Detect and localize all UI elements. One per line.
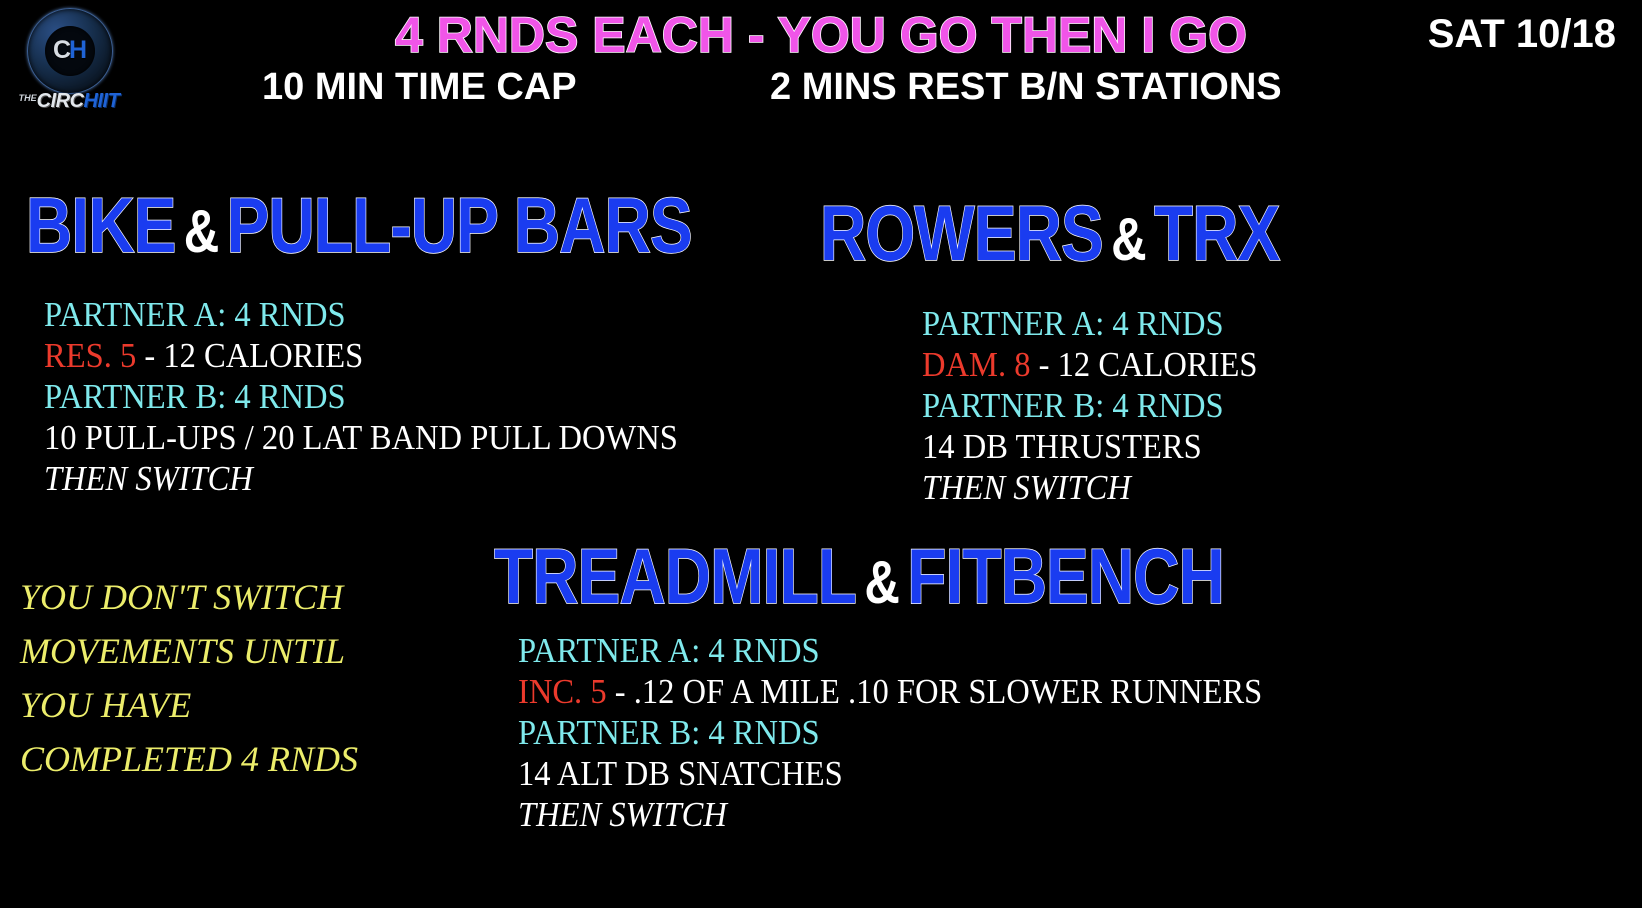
station-amp-1: & xyxy=(1103,206,1154,273)
station-1-line-1-suffix: - 12 CALORIES xyxy=(1031,345,1258,384)
note-line-3: COMPLETED 4 RNDS xyxy=(20,732,358,786)
station-name-trx: TRX xyxy=(1154,189,1279,277)
station-name-pullup-bars: PULL-UP BARS xyxy=(227,181,692,269)
station-1-line-0: PARTNER A: 4 RNDS xyxy=(922,303,1257,344)
station-0-line-1-setting: RES. 5 xyxy=(44,336,136,375)
logo-monogram-c: C xyxy=(53,36,69,65)
station-body-treadmill: PARTNER A: 4 RNDS INC. 5 - .12 OF A MILE… xyxy=(518,630,1262,835)
station-heading-rowers: ROWERS&TRX xyxy=(820,194,1279,272)
station-amp-2: & xyxy=(856,549,907,616)
station-1-line-4: THEN SWITCH xyxy=(922,467,1257,508)
station-2-line-0: PARTNER A: 4 RNDS xyxy=(518,630,1262,671)
time-cap-label: 10 MIN TIME CAP xyxy=(262,66,577,109)
station-name-fitbench: FITBENCH xyxy=(907,532,1224,620)
logo-word-hiit: HIIT xyxy=(84,90,120,112)
station-1-line-1-setting: DAM. 8 xyxy=(922,345,1031,384)
station-0-line-4: THEN SWITCH xyxy=(44,458,678,499)
station-amp-0: & xyxy=(176,198,227,265)
logo-monogram: CH xyxy=(27,8,111,92)
station-heading-bike: BIKE&PULL-UP BARS xyxy=(26,186,692,264)
logo-wordmark: THECIRCHIIT xyxy=(10,90,128,113)
station-heading-treadmill: TREADMILL&FITBENCH xyxy=(494,537,1224,615)
station-2-line-1-suffix: - .12 OF A MILE .10 FOR SLOWER RUNNERS xyxy=(607,672,1263,711)
station-name-treadmill: TREADMILL xyxy=(494,532,856,620)
station-0-line-1-suffix: - 12 CALORIES xyxy=(136,336,363,375)
station-body-bike: PARTNER A: 4 RNDS RES. 5 - 12 CALORIES P… xyxy=(44,294,678,499)
station-0-line-2: PARTNER B: 4 RNDS xyxy=(44,376,678,417)
note-line-2: YOU HAVE xyxy=(20,678,358,732)
logo-word-circ: CIRC xyxy=(37,90,84,112)
station-2-line-2: PARTNER B: 4 RNDS xyxy=(518,712,1262,753)
rest-label: 2 MINS REST B/N STATIONS xyxy=(770,66,1282,109)
logo-monogram-h: H xyxy=(69,36,85,65)
station-1-line-3: 14 DB THRUSTERS xyxy=(922,426,1257,467)
session-date: SAT 10/18 xyxy=(1428,12,1616,57)
station-1-line-2: PARTNER B: 4 RNDS xyxy=(922,385,1257,426)
circhiit-logo-icon: CH THECIRCHIIT xyxy=(10,6,128,110)
station-2-line-3: 14 ALT DB SNATCHES xyxy=(518,753,1262,794)
note-line-1: MOVEMENTS UNTIL xyxy=(20,624,358,678)
switch-rule-note: YOU DON'T SWITCH MOVEMENTS UNTIL YOU HAV… xyxy=(20,570,358,786)
note-line-0: YOU DON'T SWITCH xyxy=(20,570,358,624)
workout-board: CH THECIRCHIIT 4 RNDS EACH - YOU GO THEN… xyxy=(0,0,1642,908)
logo-word-the: THE xyxy=(19,93,37,103)
station-body-rowers: PARTNER A: 4 RNDS DAM. 8 - 12 CALORIES P… xyxy=(922,303,1257,508)
page-title: 4 RNDS EACH - YOU GO THEN I GO xyxy=(0,6,1642,64)
station-0-line-3: 10 PULL-UPS / 20 LAT BAND PULL DOWNS xyxy=(44,417,678,458)
station-2-line-4: THEN SWITCH xyxy=(518,794,1262,835)
station-name-bike: BIKE xyxy=(26,181,176,269)
station-0-line-0: PARTNER A: 4 RNDS xyxy=(44,294,678,335)
station-2-line-1-setting: INC. 5 xyxy=(518,672,607,711)
station-name-rowers: ROWERS xyxy=(820,189,1103,277)
